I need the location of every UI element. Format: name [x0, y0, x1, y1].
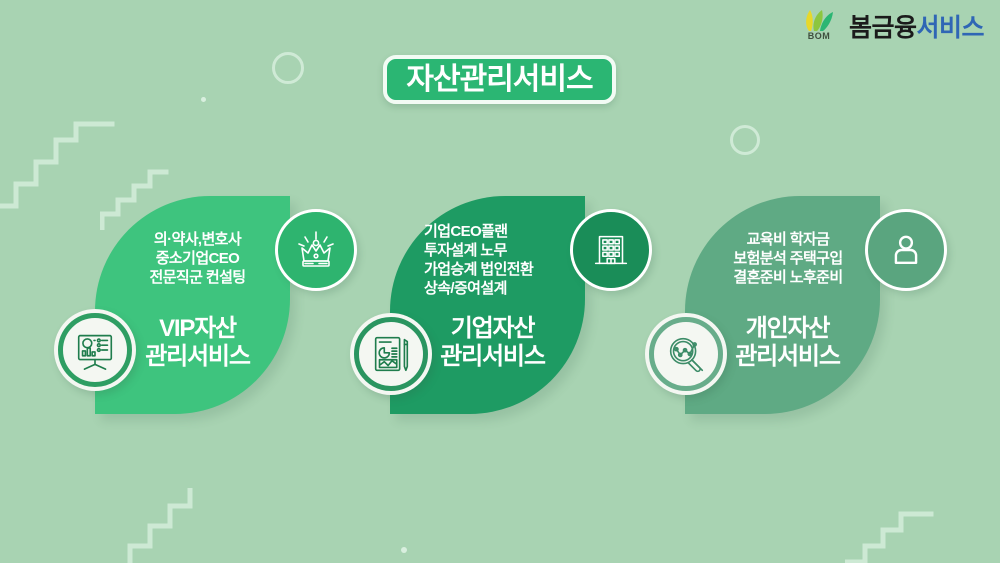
office-building-icon	[588, 227, 634, 273]
presentation-chart-icon	[72, 327, 118, 373]
card-personal-person-badge[interactable]	[865, 209, 947, 291]
dot-top-center-icon	[201, 97, 206, 102]
ring-top-left-icon	[272, 52, 304, 84]
logo-word-part2: 서비스	[916, 14, 984, 42]
card-vip-presentation-badge[interactable]	[54, 309, 136, 391]
card-vip-description: 의·약사,변호사 중소기업CEO 전문직군 컨설팅	[105, 230, 290, 287]
bom-leaf-logo-icon: BOM	[797, 8, 841, 44]
card-vip-shape	[95, 196, 290, 414]
crown-icon	[292, 226, 340, 274]
logo-word-part1: 봄금융	[849, 14, 917, 42]
card-vip-crown-badge[interactable]	[275, 209, 357, 291]
dot-bottom-center-icon	[401, 547, 407, 553]
person-icon	[884, 228, 928, 272]
card-personal-description: 교육비 학자금 보험분석 주택구입 결혼준비 노후준비	[693, 230, 883, 287]
card-corporate-description: 기업CEO플랜 투자설계 노무 가업승계 법인전환 상속/증여설계	[398, 222, 588, 298]
magnifier-chart-icon	[663, 331, 709, 377]
poster-canvas: BOM 봄금융서비스 자산관리서비스 의·약사,변호사 중소기업CEO 전문직군…	[0, 0, 1000, 563]
logo-mark-text: BOM	[808, 31, 831, 41]
logo-wordmark: 봄금융서비스	[849, 8, 984, 44]
ring-top-right-icon	[730, 125, 760, 155]
zigzag-left-lower-icon	[108, 488, 218, 563]
card-vip[interactable]: 의·약사,변호사 중소기업CEO 전문직군 컨설팅 VIP자산 관리서비스	[95, 196, 290, 414]
card-personal-magnifier-badge[interactable]	[645, 313, 727, 395]
page-title-label: 자산관리서비스	[406, 65, 592, 95]
report-pencil-icon	[368, 331, 414, 377]
page-title: 자산관리서비스	[383, 55, 616, 104]
zigzag-bottom-right-icon	[845, 500, 945, 563]
card-corporate-building-badge[interactable]	[570, 209, 652, 291]
brand-logo: BOM 봄금융서비스	[797, 8, 984, 44]
card-corporate-report-badge[interactable]	[350, 313, 432, 395]
